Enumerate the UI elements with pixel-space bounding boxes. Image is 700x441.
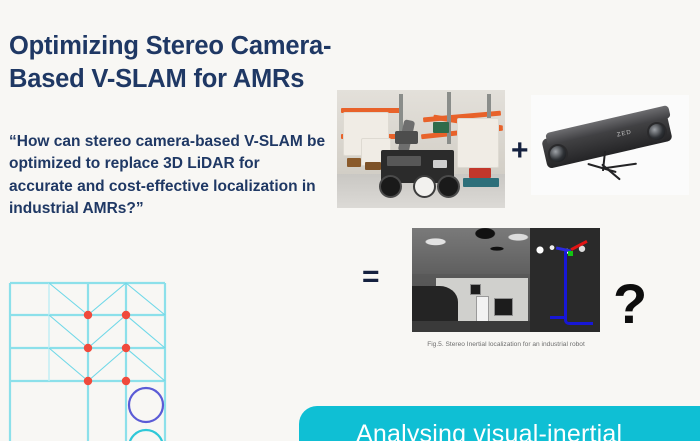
green-crate	[433, 122, 449, 133]
industrial-amr-photo	[337, 90, 505, 208]
slam-feature-view	[412, 228, 530, 332]
robot-control-panel	[387, 156, 421, 166]
wooden-crate	[347, 158, 361, 167]
slam-noise-region	[412, 228, 530, 274]
robot-wheel	[379, 175, 402, 198]
slam-axis-origin	[568, 251, 573, 256]
teal-circle	[129, 430, 163, 441]
blue-circle	[129, 388, 163, 422]
rack-post	[447, 92, 451, 144]
robot-label-plate	[433, 160, 447, 168]
slam-trajectory-tail	[550, 316, 566, 319]
slide-canvas: Optimizing Stereo Camera-Based V-SLAM fo…	[0, 0, 700, 441]
slam-ground-plane	[412, 321, 530, 332]
wooden-crate	[365, 162, 381, 170]
slam-pointcloud-view	[530, 228, 600, 332]
robot-wheel	[437, 175, 460, 198]
equals-icon: =	[362, 262, 380, 292]
question-mark-icon: ?	[613, 276, 647, 332]
section-banner: Analysing visual-inertial	[299, 406, 700, 441]
robot-manipulator-joint	[395, 131, 418, 144]
teal-crate	[463, 178, 499, 187]
slam-window	[494, 298, 513, 316]
pallet-stack	[457, 118, 499, 168]
robot-wheel	[413, 175, 436, 198]
section-banner-label: Analysing visual-inertial	[356, 420, 622, 441]
truss-grid-line-drawing	[0, 272, 180, 441]
slam-output-photo	[412, 228, 600, 332]
stereo-camera-photo: ZED	[531, 95, 689, 195]
slam-window	[470, 284, 481, 295]
camera-left-lens	[548, 144, 568, 164]
slam-shadow-region	[412, 286, 458, 326]
camera-right-lens	[647, 122, 667, 142]
research-question-text: “How can stereo camera-based V-SLAM be o…	[9, 131, 327, 221]
plus-icon: +	[511, 136, 529, 166]
red-crate	[469, 168, 491, 178]
figure-caption: Fig.5. Stereo Inertial localization for …	[412, 340, 600, 350]
slam-trajectory-path	[564, 250, 593, 325]
page-title: Optimizing Stereo Camera-Based V-SLAM fo…	[9, 30, 339, 95]
slam-door	[476, 296, 489, 322]
